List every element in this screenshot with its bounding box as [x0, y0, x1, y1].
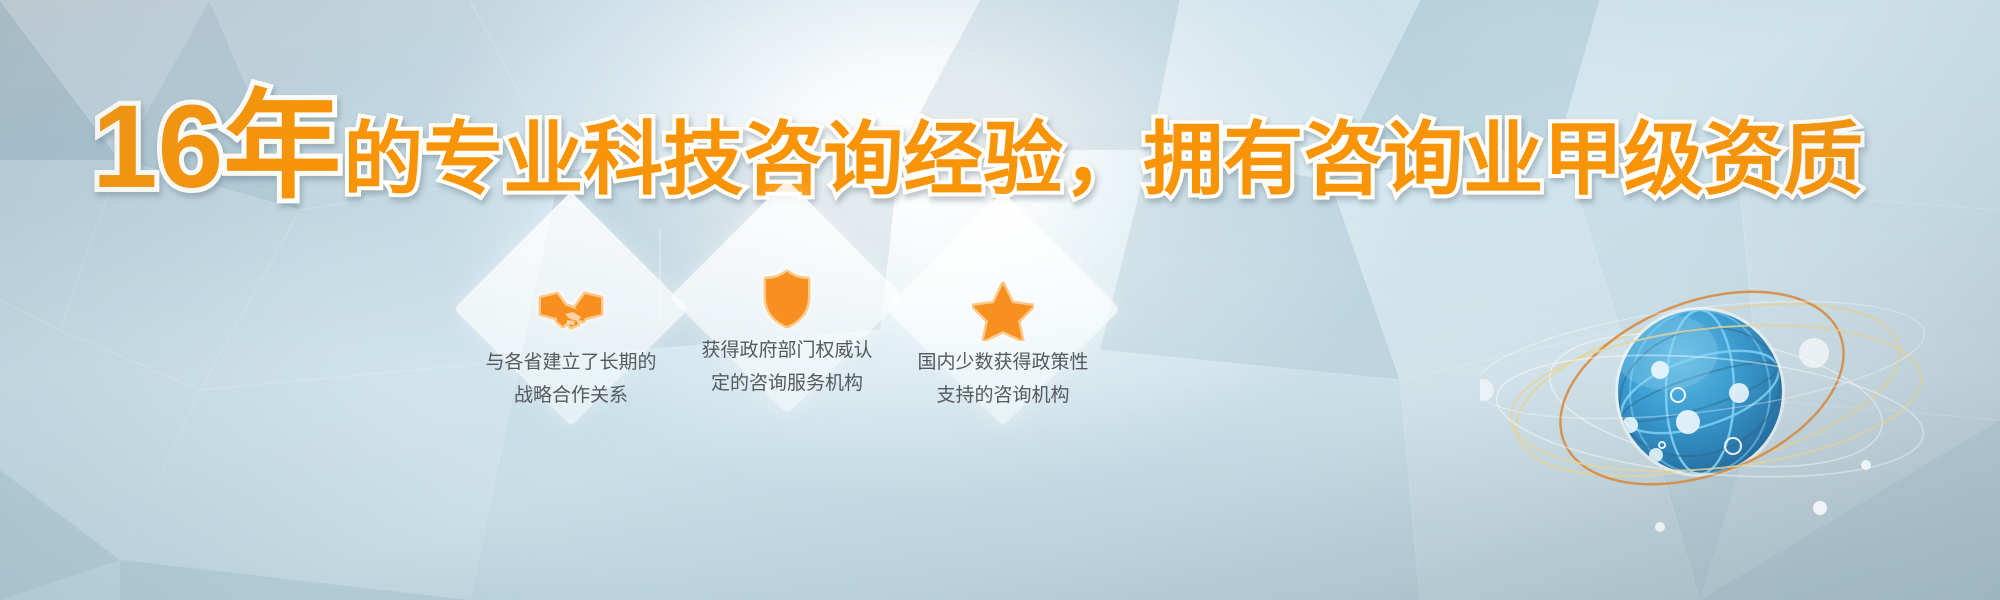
shield-icon: [671, 266, 903, 332]
feature-text: 国内少数获得政策性 支持的咨询机构: [869, 346, 1137, 412]
star-icon: [887, 278, 1119, 344]
globe-orbit-graphic: [1480, 240, 1960, 560]
feature-list: 与各省建立了长期的 战略合作关系 获得政府部门权威认 定的咨询服务机构: [455, 222, 1155, 452]
headline-highlight: 16年: [92, 92, 341, 202]
feature-line-2: 支持的咨询机构: [869, 379, 1137, 412]
promo-banner: 16年 的专业科技咨询经验，拥有咨询业甲级资质: [0, 0, 2000, 600]
feature-line-1: 国内少数获得政策性: [869, 346, 1137, 379]
feature-item-policy-support[interactable]: 国内少数获得政策性 支持的咨询机构: [887, 226, 1119, 458]
banner-headline: 16年 的专业科技咨询经验，拥有咨询业甲级资质: [92, 92, 1863, 215]
